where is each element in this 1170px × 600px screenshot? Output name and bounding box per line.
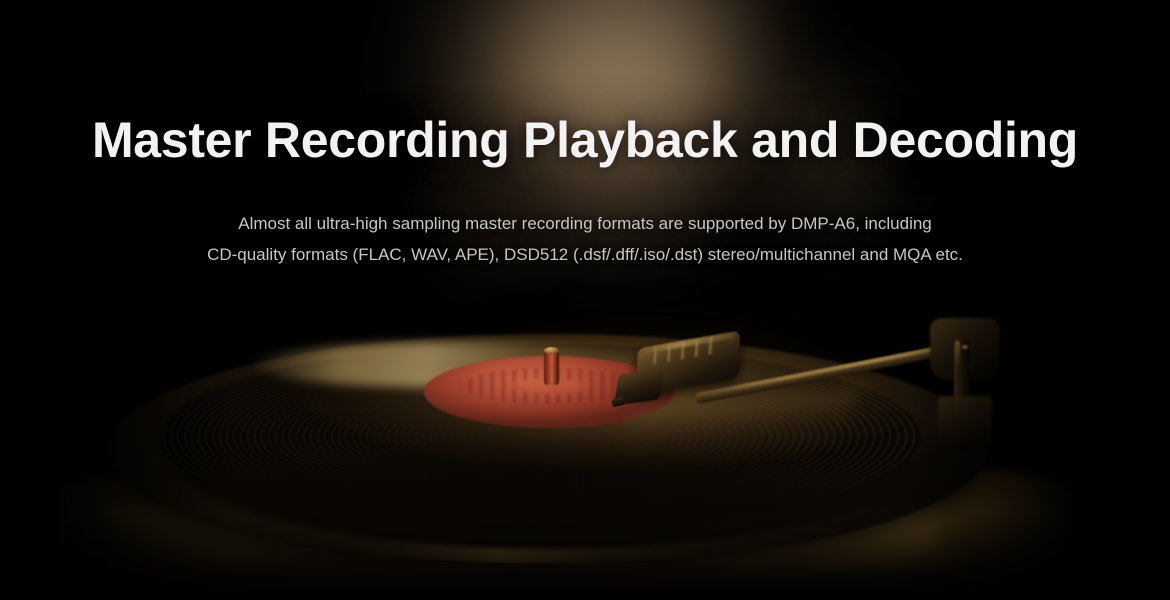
hero-subcopy-line-2: CD-quality formats (FLAC, WAV, APE), DSD… [0,239,1170,270]
hero-headline: Master Recording Playback and Decoding [0,112,1170,168]
hero-subcopy: Almost all ultra-high sampling master re… [0,208,1170,270]
hero-subcopy-line-1: Almost all ultra-high sampling master re… [0,208,1170,239]
hero-text-layer: Master Recording Playback and Decoding A… [0,0,1170,600]
master-recording-hero-banner: Master Recording Playback and Decoding A… [0,0,1170,600]
